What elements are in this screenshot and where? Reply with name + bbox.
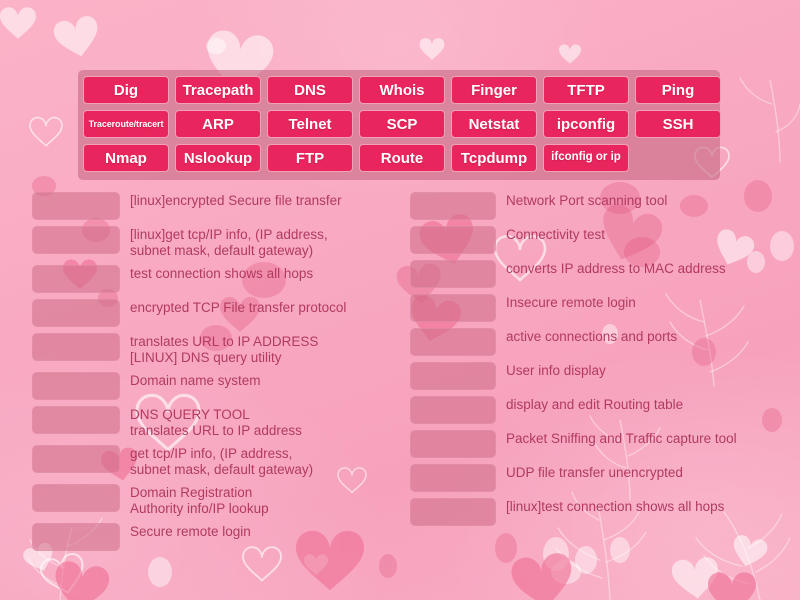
answer-text: Packet Sniffing and Traffic capture tool bbox=[506, 430, 790, 447]
word-tile-ftp[interactable]: FTP bbox=[267, 144, 353, 172]
answer-text: get tcp/IP info, (IP address, subnet mas… bbox=[130, 445, 398, 478]
match-row: active connections and ports bbox=[410, 328, 790, 356]
word-tile-scp[interactable]: SCP bbox=[359, 110, 445, 138]
match-row: [linux]encrypted Secure file transfer bbox=[32, 192, 398, 220]
drop-zone[interactable] bbox=[32, 333, 120, 361]
drop-zone[interactable] bbox=[410, 294, 496, 322]
answer-line: Network Port scanning tool bbox=[506, 193, 790, 209]
answer-text: translates URL to IP ADDRESS [LINUX] DNS… bbox=[130, 333, 398, 366]
word-bank-panel: Dig Tracepath DNS Whois Finger TFTP Ping… bbox=[78, 70, 720, 180]
answer-text: Connectivity test bbox=[506, 226, 790, 243]
drop-zone[interactable] bbox=[32, 192, 120, 220]
drop-zone[interactable] bbox=[410, 464, 496, 492]
answer-line: UDP file transfer unencrypted bbox=[506, 465, 790, 481]
drop-zone[interactable] bbox=[410, 362, 496, 390]
drop-zone[interactable] bbox=[32, 372, 120, 400]
answer-line: translates URL to IP address bbox=[130, 423, 398, 439]
answer-line: converts IP address to MAC address bbox=[506, 261, 790, 277]
answer-line: Secure remote login bbox=[130, 524, 398, 540]
word-tile-telnet[interactable]: Telnet bbox=[267, 110, 353, 138]
answer-text: [linux]test connection shows all hops bbox=[506, 498, 790, 515]
match-row: Connectivity test bbox=[410, 226, 790, 254]
word-tile-nslookup[interactable]: Nslookup bbox=[175, 144, 261, 172]
match-row: display and edit Routing table bbox=[410, 396, 790, 424]
answer-line: User info display bbox=[506, 363, 790, 379]
word-tile-finger[interactable]: Finger bbox=[451, 76, 537, 104]
drop-zone[interactable] bbox=[410, 192, 496, 220]
drop-zone[interactable] bbox=[32, 445, 120, 473]
answer-text: converts IP address to MAC address bbox=[506, 260, 790, 277]
word-tile-tftp[interactable]: TFTP bbox=[543, 76, 629, 104]
match-row: [linux]get tcp/IP info, (IP address, sub… bbox=[32, 226, 398, 259]
match-row: [linux]test connection shows all hops bbox=[410, 498, 790, 526]
word-tile-whois[interactable]: Whois bbox=[359, 76, 445, 104]
answer-text: Network Port scanning tool bbox=[506, 192, 790, 209]
answer-text: encrypted TCP File transfer protocol bbox=[130, 299, 398, 316]
answer-text: UDP file transfer unencrypted bbox=[506, 464, 790, 481]
match-row: Packet Sniffing and Traffic capture tool bbox=[410, 430, 790, 458]
drop-zone[interactable] bbox=[32, 226, 120, 254]
answer-text: Secure remote login bbox=[130, 523, 398, 540]
answer-line: display and edit Routing table bbox=[506, 397, 790, 413]
word-tile-route[interactable]: Route bbox=[359, 144, 445, 172]
drop-zone[interactable] bbox=[32, 523, 120, 551]
answer-line: test connection shows all hops bbox=[130, 266, 398, 282]
answer-line: [LINUX] DNS query utility bbox=[130, 350, 398, 366]
match-row: Domain Registration Authority info/IP lo… bbox=[32, 484, 398, 517]
drop-zone[interactable] bbox=[410, 328, 496, 356]
answer-line: get tcp/IP info, (IP address, bbox=[130, 446, 398, 462]
answer-text: active connections and ports bbox=[506, 328, 790, 345]
answer-text: [linux]get tcp/IP info, (IP address, sub… bbox=[130, 226, 398, 259]
answer-line: Domain Registration bbox=[130, 485, 398, 501]
answer-line: [linux]test connection shows all hops bbox=[506, 499, 790, 515]
match-row: encrypted TCP File transfer protocol bbox=[32, 299, 398, 327]
match-row: test connection shows all hops bbox=[32, 265, 398, 293]
answer-line: active connections and ports bbox=[506, 329, 790, 345]
answer-line: Domain name system bbox=[130, 373, 398, 389]
drop-zone[interactable] bbox=[410, 498, 496, 526]
answer-line: Insecure remote login bbox=[506, 295, 790, 311]
answer-text: test connection shows all hops bbox=[130, 265, 398, 282]
word-tile-traceroute-tracert[interactable]: Traceroute/tracert bbox=[83, 110, 169, 138]
drop-zone[interactable] bbox=[32, 265, 120, 293]
match-row: Insecure remote login bbox=[410, 294, 790, 322]
answer-text: User info display bbox=[506, 362, 790, 379]
answer-line: [linux]get tcp/IP info, (IP address, bbox=[130, 227, 398, 243]
answers-column-left: [linux]encrypted Secure file transfer [l… bbox=[32, 192, 398, 557]
word-bank-row-3: Nmap Nslookup FTP Route Tcpdump ifconfig… bbox=[83, 144, 715, 172]
match-row: UDP file transfer unencrypted bbox=[410, 464, 790, 492]
match-row: get tcp/IP info, (IP address, subnet mas… bbox=[32, 445, 398, 478]
match-row: translates URL to IP ADDRESS [LINUX] DNS… bbox=[32, 333, 398, 366]
answer-line: Connectivity test bbox=[506, 227, 790, 243]
word-tile-dig[interactable]: Dig bbox=[83, 76, 169, 104]
match-row: User info display bbox=[410, 362, 790, 390]
answer-line: subnet mask, default gateway) bbox=[130, 462, 398, 478]
word-tile-nmap[interactable]: Nmap bbox=[83, 144, 169, 172]
answer-line: DNS QUERY TOOL bbox=[130, 407, 398, 423]
match-row: Network Port scanning tool bbox=[410, 192, 790, 220]
word-tile-arp[interactable]: ARP bbox=[175, 110, 261, 138]
drop-zone[interactable] bbox=[410, 396, 496, 424]
word-bank-row-2: Traceroute/tracert ARP Telnet SCP Netsta… bbox=[83, 110, 715, 138]
answer-text: display and edit Routing table bbox=[506, 396, 790, 413]
drop-zone[interactable] bbox=[410, 430, 496, 458]
answer-text: Domain name system bbox=[130, 372, 398, 389]
answer-text: DNS QUERY TOOL translates URL to IP addr… bbox=[130, 406, 398, 439]
word-tile-ping[interactable]: Ping bbox=[635, 76, 721, 104]
match-row: converts IP address to MAC address bbox=[410, 260, 790, 288]
answer-text: [linux]encrypted Secure file transfer bbox=[130, 192, 398, 209]
word-bank-row-1: Dig Tracepath DNS Whois Finger TFTP Ping bbox=[83, 76, 715, 104]
match-row: Secure remote login bbox=[32, 523, 398, 551]
word-tile-ifconfig-or-ip[interactable]: ifconfig or ip bbox=[543, 144, 629, 172]
match-row: Domain name system bbox=[32, 372, 398, 400]
answer-line: encrypted TCP File transfer protocol bbox=[130, 300, 398, 316]
word-tile-ssh[interactable]: SSH bbox=[635, 110, 721, 138]
drop-zone[interactable] bbox=[32, 484, 120, 512]
word-tile-dns[interactable]: DNS bbox=[267, 76, 353, 104]
word-tile-tcpdump[interactable]: Tcpdump bbox=[451, 144, 537, 172]
drop-zone[interactable] bbox=[410, 260, 496, 288]
answer-line: Authority info/IP lookup bbox=[130, 501, 398, 517]
word-tile-tracepath[interactable]: Tracepath bbox=[175, 76, 261, 104]
drop-zone[interactable] bbox=[32, 406, 120, 434]
answer-line: translates URL to IP ADDRESS bbox=[130, 334, 398, 350]
answer-line: subnet mask, default gateway) bbox=[130, 243, 398, 259]
match-row: DNS QUERY TOOL translates URL to IP addr… bbox=[32, 406, 398, 439]
drop-zone[interactable] bbox=[32, 299, 120, 327]
answer-line: [linux]encrypted Secure file transfer bbox=[130, 193, 398, 209]
word-tile-netstat[interactable]: Netstat bbox=[451, 110, 537, 138]
answer-text: Domain Registration Authority info/IP lo… bbox=[130, 484, 398, 517]
word-tile-ipconfig[interactable]: ipconfig bbox=[543, 110, 629, 138]
answer-line: Packet Sniffing and Traffic capture tool bbox=[506, 431, 790, 447]
answer-text: Insecure remote login bbox=[506, 294, 790, 311]
answers-column-right: Network Port scanning tool Connectivity … bbox=[410, 192, 790, 532]
drop-zone[interactable] bbox=[410, 226, 496, 254]
